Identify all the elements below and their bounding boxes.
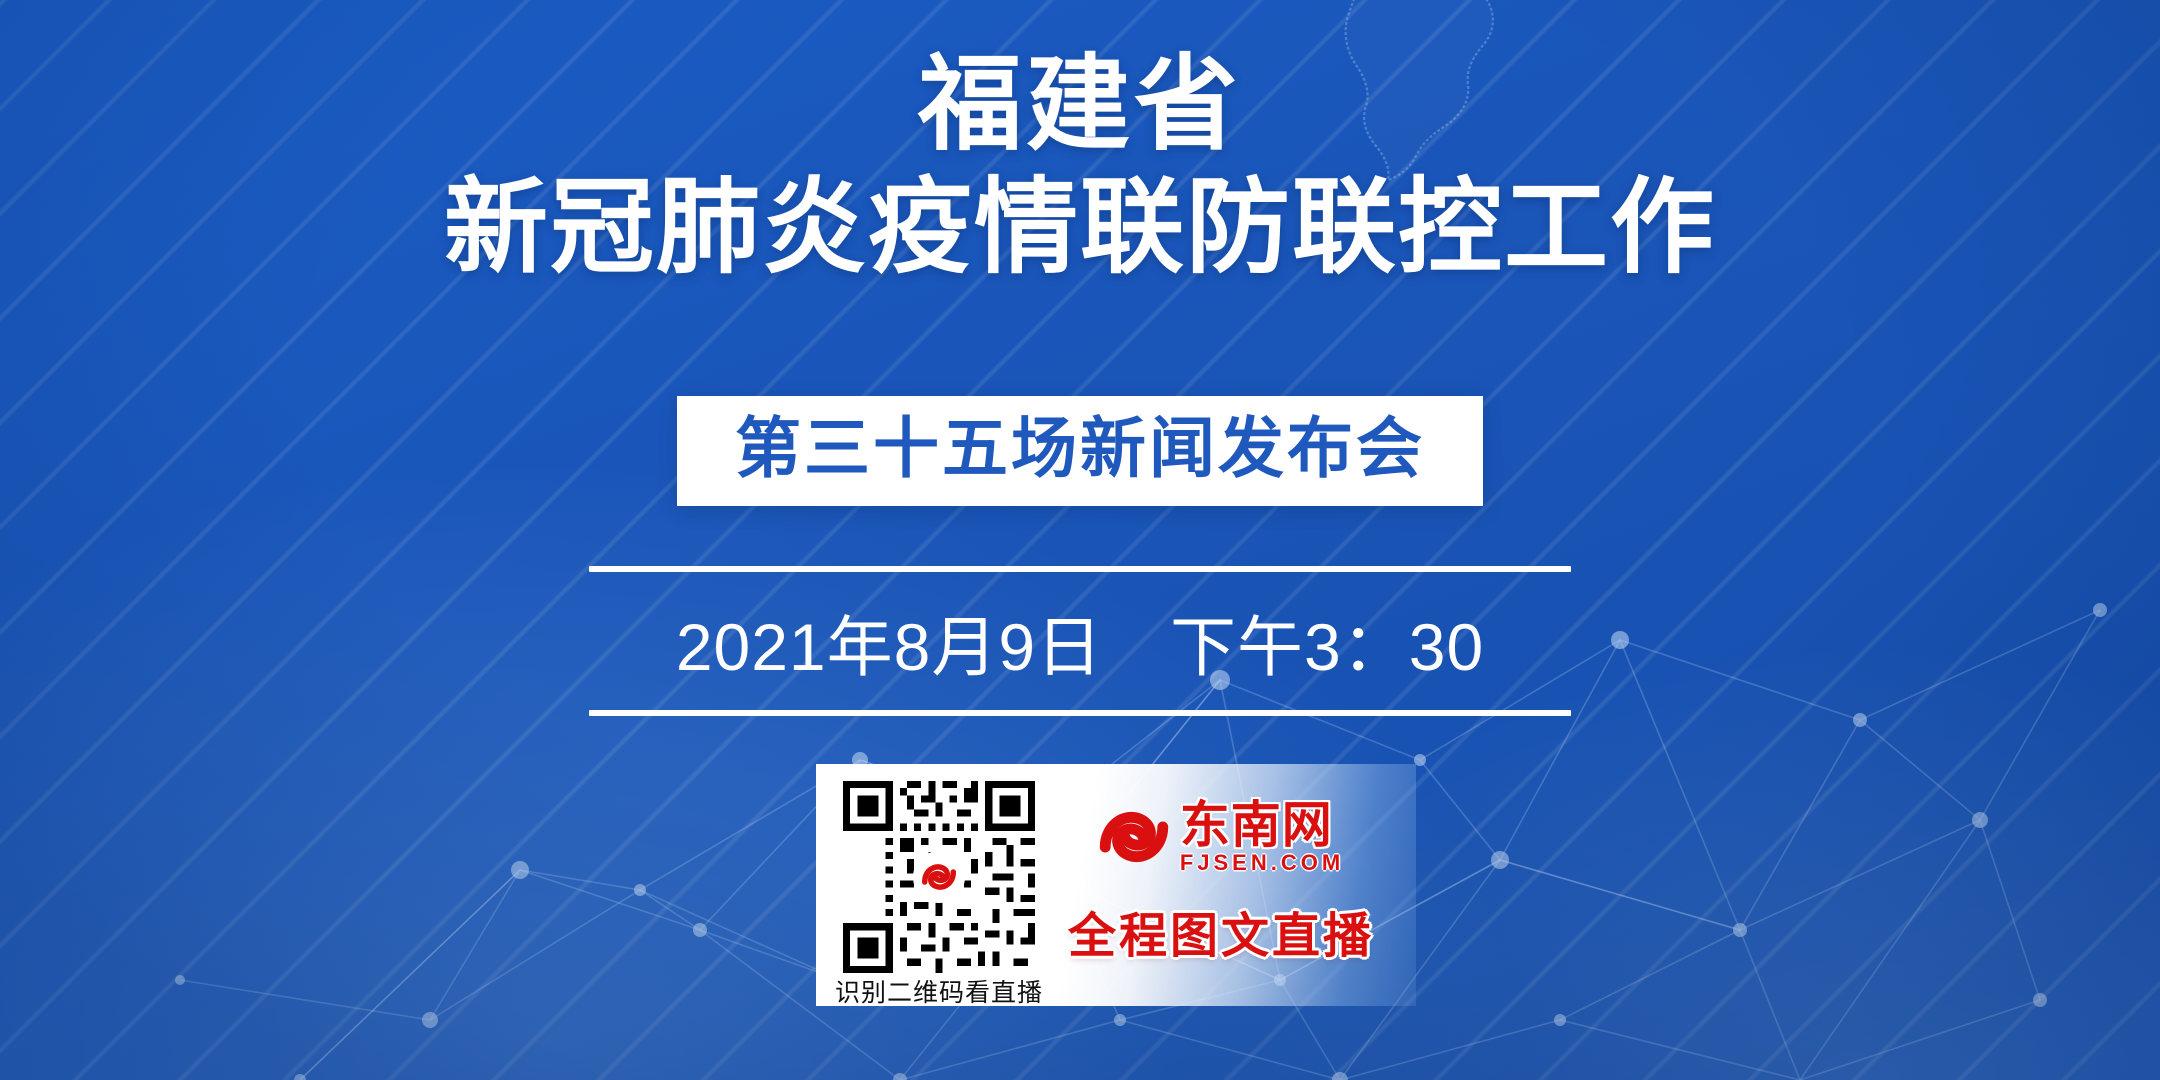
livestream-tagline: 全程图文直播 <box>1068 896 1374 966</box>
title-line-2: 新冠肺炎疫情联防联控工作 <box>0 167 2160 290</box>
dongnan-swirl-icon <box>1098 801 1170 873</box>
brand-name-cn: 东南网 <box>1180 800 1344 850</box>
page-title: 福建省 新冠肺炎疫情联防联控工作 <box>0 44 2160 289</box>
livestream-qr-panel: 识别二维码看直播 东南网 FJSEN.COM 全程图文直播 <box>816 764 1416 1006</box>
brand-logo: 东南网 FJSEN.COM <box>1098 800 1344 874</box>
dongnan-swirl-icon <box>918 856 960 898</box>
qr-code-image[interactable] <box>836 774 1042 980</box>
subtitle-text: 第三十五场新闻发布会 <box>735 412 1425 486</box>
brand-wordmark: 东南网 FJSEN.COM <box>1180 800 1344 874</box>
brand-name-en: FJSEN.COM <box>1180 852 1344 874</box>
qr-center-logo <box>913 851 965 903</box>
datetime-text: 2021年8月9日 下午3：30 <box>589 572 1571 710</box>
rule-bottom <box>589 710 1571 716</box>
subtitle-banner: 第三十五场新闻发布会 <box>677 396 1483 506</box>
brand-group: 东南网 FJSEN.COM 全程图文直播 <box>1052 774 1416 966</box>
title-line-1: 福建省 <box>0 44 2160 167</box>
qr-group: 识别二维码看直播 <box>826 774 1052 1006</box>
datetime-block: 2021年8月9日 下午3：30 <box>589 566 1571 716</box>
poster-content: 福建省 新冠肺炎疫情联防联控工作 第三十五场新闻发布会 2021年8月9日 下午… <box>0 0 2160 1080</box>
poster-canvas: 福建省 新冠肺炎疫情联防联控工作 第三十五场新闻发布会 2021年8月9日 下午… <box>0 0 2160 1080</box>
qr-caption: 识别二维码看直播 <box>835 981 1043 1006</box>
